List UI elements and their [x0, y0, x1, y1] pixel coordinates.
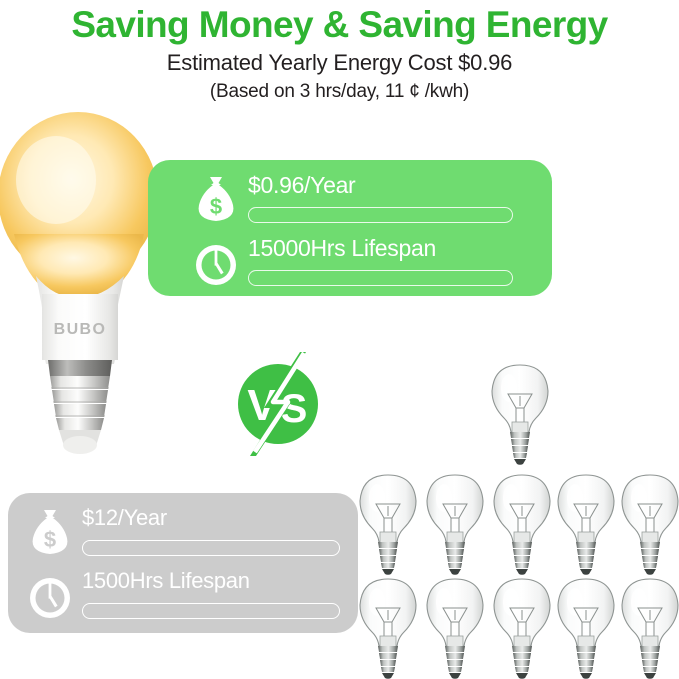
- incandescent-lifespan-row: 1500Hrs Lifespan: [8, 568, 358, 628]
- svg-text:$: $: [44, 527, 56, 552]
- led-lifespan-label: 15000Hrs Lifespan: [248, 235, 436, 262]
- bulb-brand-text: BUBO: [54, 321, 107, 338]
- incandescent-bulb-icon: [486, 472, 558, 576]
- incandescent-bulb-icon: [550, 576, 622, 679]
- incandescent-bulb-icon: [550, 472, 622, 576]
- incandescent-cost-progress-bar: [82, 540, 340, 556]
- incandescent-bulb-grid: [352, 472, 679, 679]
- incandescent-lifespan-progress-bar: [82, 603, 340, 619]
- clock-icon: [28, 570, 72, 626]
- incandescent-bulb-icon: [486, 576, 558, 679]
- led-cost-row: $ $0.96/Year: [148, 172, 552, 232]
- incandescent-cost-row: $ $12/Year: [8, 505, 358, 565]
- vs-badge: V S: [228, 352, 332, 456]
- incandescent-cost-label: $12/Year: [82, 505, 167, 531]
- led-cost-label: $0.96/Year: [248, 172, 355, 199]
- led-cost-progress-bar: [248, 207, 513, 223]
- money-bag-icon: $: [194, 174, 238, 230]
- incandescent-comparison-card: $ $12/Year 1500Hrs Lifespan: [8, 493, 358, 633]
- clock-icon: [194, 237, 238, 293]
- incandescent-bulb-icon: [614, 472, 679, 576]
- money-bag-icon: $: [28, 507, 72, 563]
- incandescent-bulb-icon: [419, 576, 491, 679]
- led-bulb-icon: BUBO: [0, 108, 170, 468]
- led-lifespan-progress-bar: [248, 270, 513, 286]
- subtitle-note: (Based on 3 hrs/day, 11 ¢ /kwh): [0, 81, 679, 103]
- incandescent-bulb-icon: [352, 472, 424, 576]
- infographic-canvas: Saving Money & Saving Energy Estimated Y…: [0, 0, 679, 679]
- led-comparison-card: $ $0.96/Year 15000Hrs Lifespan: [148, 160, 552, 296]
- incandescent-bulb-icon: [352, 576, 424, 679]
- incandescent-bulb-icon: [419, 472, 491, 576]
- incandescent-lifespan-label: 1500Hrs Lifespan: [82, 568, 250, 594]
- page-title: Saving Money & Saving Energy: [0, 4, 679, 46]
- subtitle: Estimated Yearly Energy Cost $0.96: [0, 50, 679, 76]
- led-lifespan-row: 15000Hrs Lifespan: [148, 235, 552, 295]
- svg-text:$: $: [210, 194, 222, 219]
- incandescent-bulb-icon: [484, 362, 556, 466]
- incandescent-bulb-icon: [614, 576, 679, 679]
